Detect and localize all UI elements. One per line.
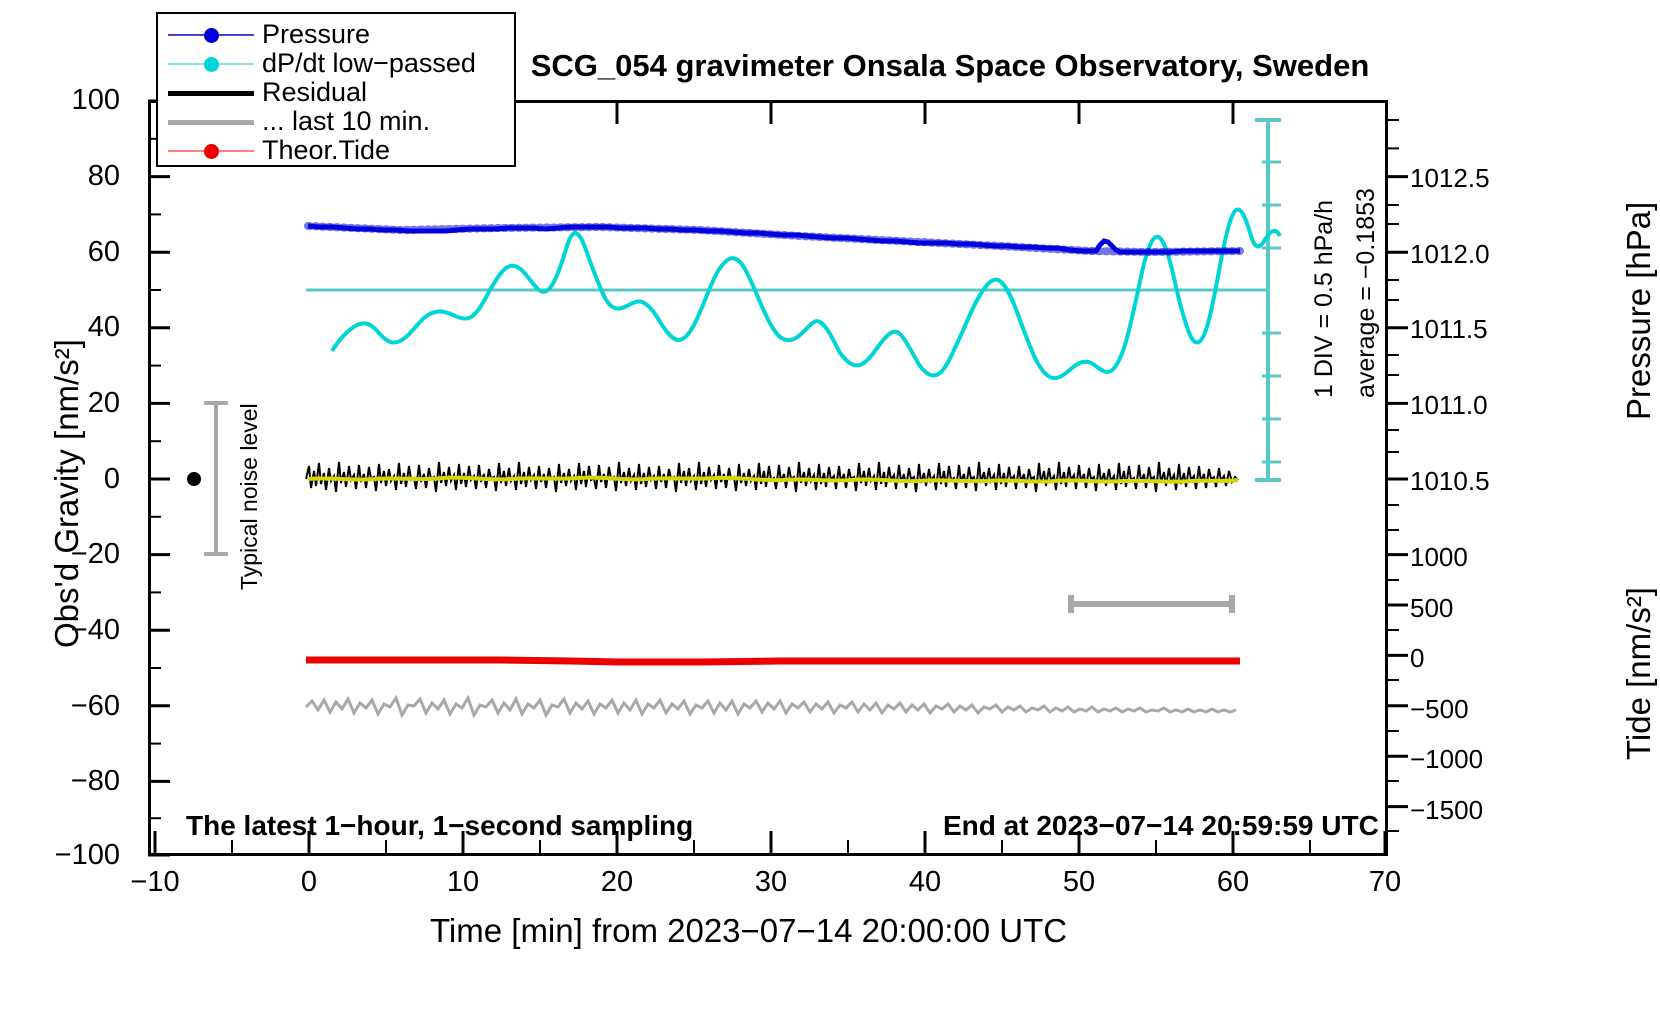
legend-item-last10[interactable]: ... last 10 min. — [168, 107, 514, 136]
ytick-label-60: 60 — [20, 238, 120, 267]
y-axis-title: Obs'd Gravity [nm/s²] — [48, 339, 86, 648]
footer-left-label: The latest 1−hour, 1−second sampling — [186, 810, 693, 842]
tide-tick-m1000: −1000 — [1410, 746, 1560, 772]
right-pressure-axis-title: Pressure [hPa] — [1620, 202, 1658, 420]
legend: Pressure dP/dt low−passed Residual ... l… — [156, 12, 516, 167]
plot-frame — [148, 100, 1388, 856]
legend-swatch-pressure — [168, 23, 254, 47]
pressure-tick-1012-0: 1012.0 — [1410, 241, 1560, 267]
ytick-label-40: 40 — [20, 313, 120, 342]
ytick-label-m100: −100 — [20, 841, 120, 870]
footer-right-label: End at 2023−07−14 20:59:59 UTC — [943, 810, 1379, 842]
scale-bar-average-label: average = −0.1853 — [1352, 188, 1381, 398]
xtick-label-10: 10 — [403, 868, 523, 897]
legend-label-residual: Residual — [254, 79, 367, 106]
tide-tick-m500: −500 — [1410, 696, 1560, 722]
pressure-tick-1011-0: 1011.0 — [1410, 392, 1560, 418]
xtick-label-30: 30 — [711, 868, 831, 897]
chart-title: SCG_054 gravimeter Onsala Space Observat… — [520, 48, 1380, 84]
legend-label-last10: ... last 10 min. — [254, 108, 430, 135]
ytick-label-80: 80 — [20, 162, 120, 191]
ytick-label-100: 100 — [20, 86, 120, 115]
tide-tick-0: 0 — [1410, 645, 1560, 671]
legend-label-theortide: Theor.Tide — [254, 137, 390, 164]
legend-item-pressure[interactable]: Pressure — [168, 20, 514, 49]
legend-item-dpdt[interactable]: dP/dt low−passed — [168, 49, 514, 78]
scale-bar-div-label: 1 DIV = 0.5 hPa/h — [1310, 200, 1339, 398]
legend-swatch-last10 — [168, 110, 254, 134]
legend-swatch-residual — [168, 81, 254, 105]
legend-item-residual[interactable]: Residual — [168, 78, 514, 107]
pressure-tick-1011-5: 1011.5 — [1410, 316, 1560, 342]
legend-item-theortide[interactable]: Theor.Tide — [168, 136, 514, 165]
typical-noise-level-label: Typical noise level — [236, 403, 263, 590]
legend-label-pressure: Pressure — [254, 21, 370, 48]
xtick-label-0: 0 — [249, 868, 369, 897]
tide-tick-500: 500 — [1410, 595, 1560, 621]
xtick-label-70: 70 — [1325, 868, 1445, 897]
tide-tick-m1500: −1500 — [1410, 797, 1560, 823]
xtick-label-40: 40 — [865, 868, 985, 897]
tide-tick-1000: 1000 — [1410, 544, 1560, 570]
xtick-label-50: 50 — [1019, 868, 1139, 897]
pressure-tick-1010-5: 1010.5 — [1410, 468, 1560, 494]
legend-label-dpdt: dP/dt low−passed — [254, 50, 476, 77]
xtick-label-20: 20 — [557, 868, 677, 897]
legend-swatch-theortide — [168, 139, 254, 163]
right-axis-major-ticks — [1386, 177, 1408, 807]
xtick-label-60: 60 — [1173, 868, 1293, 897]
right-tide-axis-title: Tide [nm/s²] — [1620, 587, 1658, 760]
xtick-label-m10: −10 — [95, 868, 215, 897]
ytick-label-m80: −80 — [20, 767, 120, 796]
chart-canvas: Pressure dP/dt low−passed Residual ... l… — [0, 0, 1660, 1020]
pressure-tick-1012-5: 1012.5 — [1410, 165, 1560, 191]
legend-swatch-dpdt — [168, 52, 254, 76]
ytick-label-m60: −60 — [20, 692, 120, 721]
x-axis-title: Time [min] from 2023−07−14 20:00:00 UTC — [430, 912, 1067, 950]
